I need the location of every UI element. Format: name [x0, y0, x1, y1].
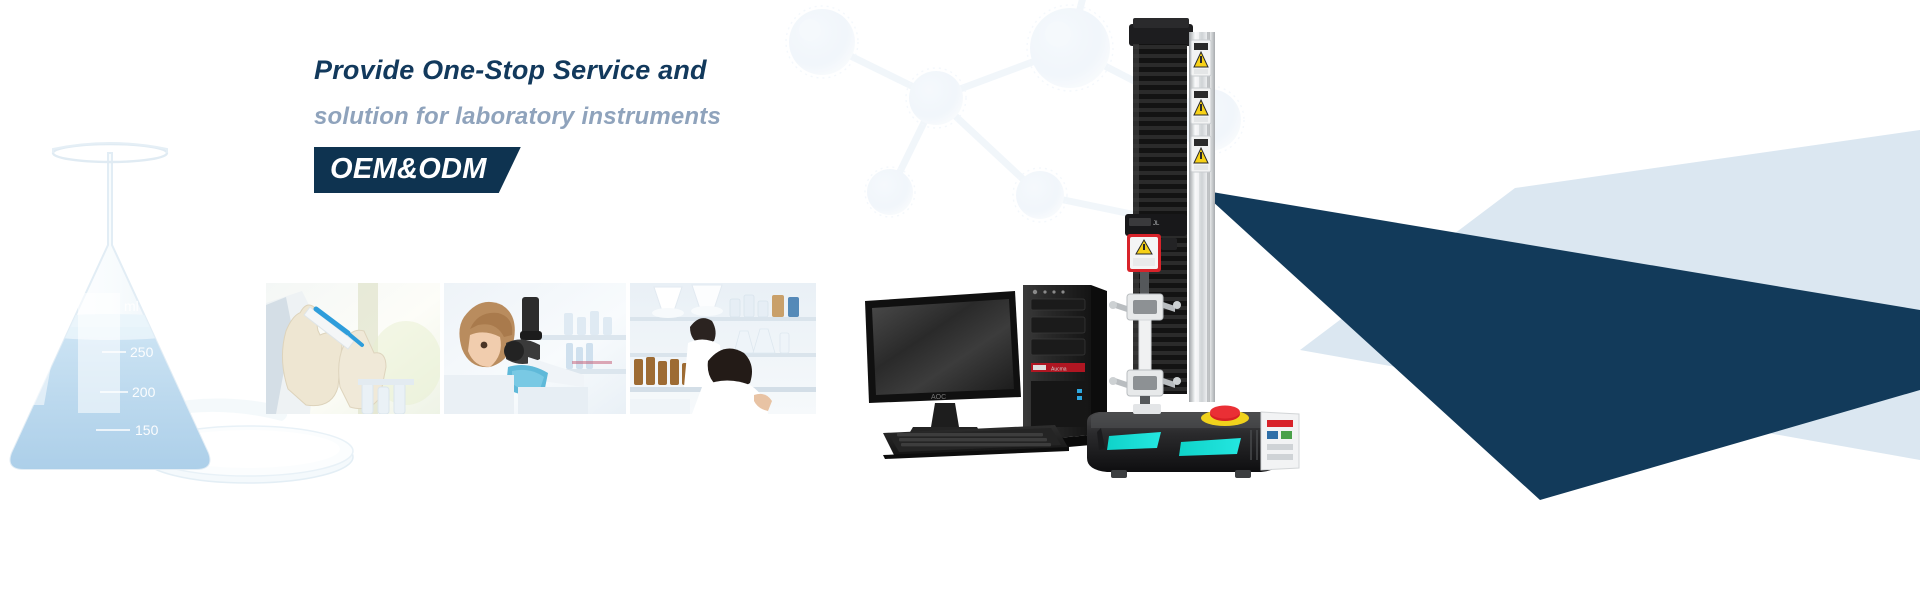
svg-text:Aucma: Aucma [1051, 367, 1067, 373]
hero-headline: Provide One-Stop Service and [314, 55, 721, 86]
svg-text:AOC: AOC [931, 394, 946, 401]
photo-microscope[interactable] [444, 283, 626, 414]
machine-base [1087, 404, 1299, 478]
hero-subline: solution for laboratory instruments [314, 103, 721, 131]
photo-lab-bench[interactable] [630, 283, 816, 414]
flask-graduation-200: 200 [132, 384, 156, 400]
side-control-panel [1261, 412, 1299, 470]
lcd-monitor: AOC [865, 291, 1021, 437]
photo-pipetting[interactable] [266, 283, 440, 414]
universal-tensile-testing-machine: JL [1085, 18, 1305, 478]
keyboard [883, 425, 1069, 459]
flask-graduation-150: 150 [135, 422, 159, 438]
svg-text:JL: JL [1153, 221, 1160, 227]
hero-text-block: Provide One-Stop Service and solution fo… [314, 55, 721, 193]
navy-arrow-shape [1200, 140, 1920, 500]
lab-photo-strip [266, 283, 816, 414]
hero-banner: ml 250 200 150 Provide One-Stop Service … [0, 0, 1920, 597]
flask-unit-label: ml [124, 298, 139, 314]
emergency-stop-button [1201, 406, 1249, 427]
oem-odm-badge[interactable]: OEM&ODM [314, 147, 521, 193]
flask-graduation-250: 250 [130, 344, 154, 360]
warning-labels [1191, 40, 1211, 172]
oem-odm-badge-wrap: OEM&ODM [314, 147, 521, 193]
